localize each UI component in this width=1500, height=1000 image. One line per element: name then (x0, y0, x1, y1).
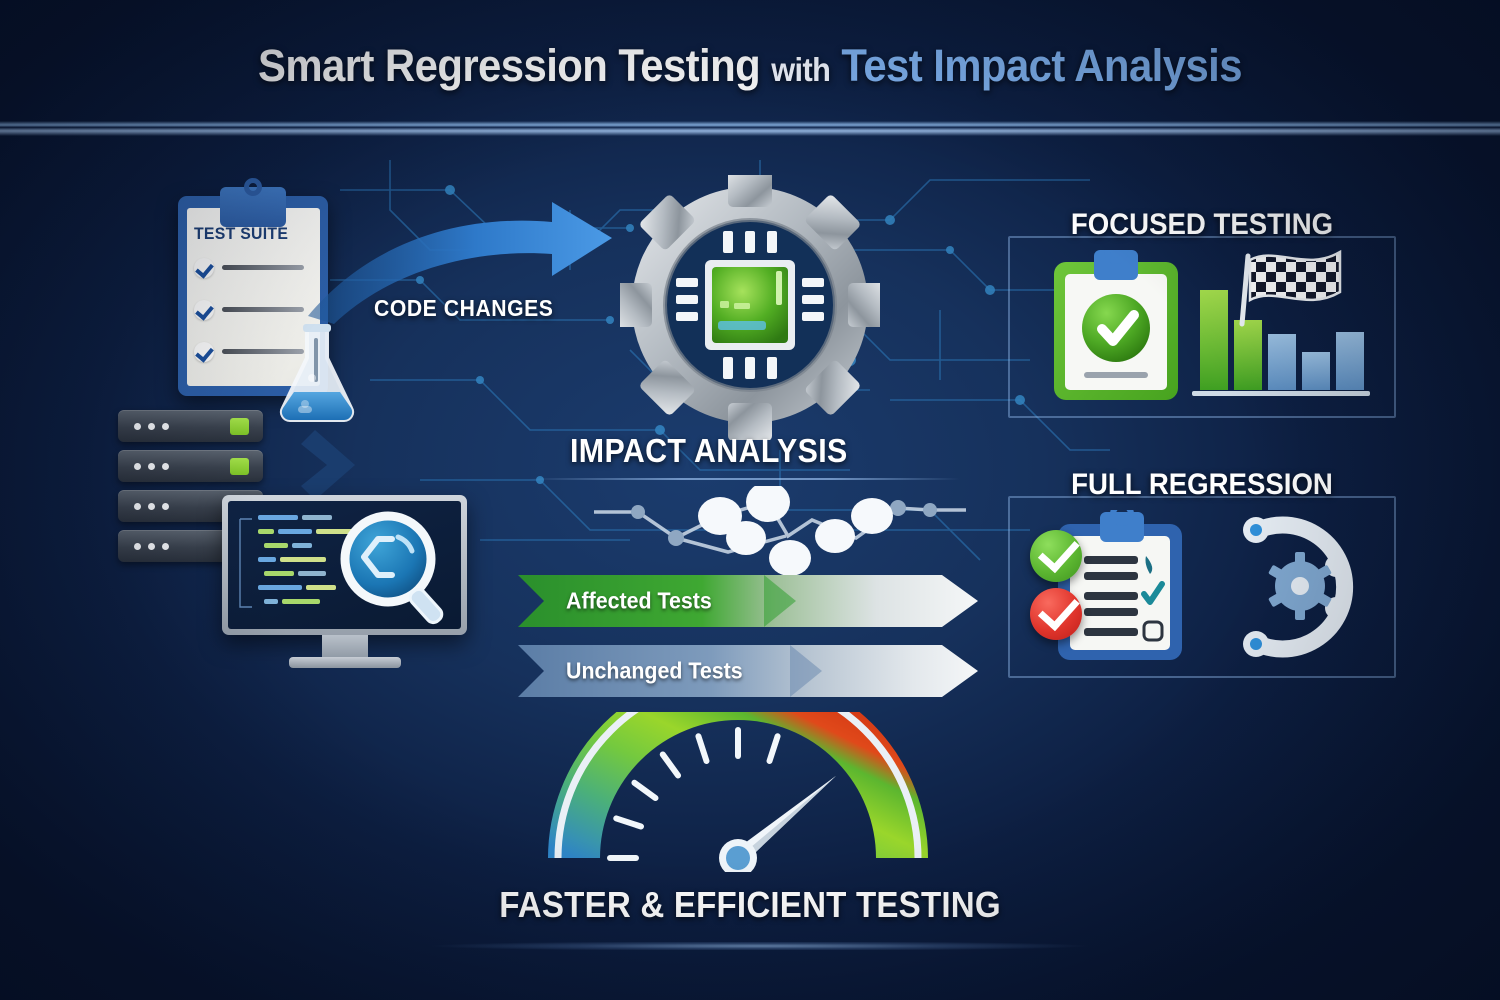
check-icon (194, 258, 214, 278)
test-suite-row (194, 300, 304, 320)
checkered-flag-icon (1236, 242, 1348, 328)
title-bar: Smart Regression Testing with Test Impac… (0, 26, 1500, 106)
panel-full-regression: FULL REGRESSION (1008, 496, 1396, 678)
blue-clipboard-icon (1052, 510, 1188, 662)
monitor-base (289, 657, 401, 668)
list-line (222, 265, 304, 270)
page-title: Smart Regression Testing with Test Impac… (258, 40, 1242, 92)
monitor-screen (228, 501, 461, 629)
green-check-badge-icon (1030, 530, 1082, 582)
magnifier-code-icon (336, 509, 458, 627)
clipboard-ring-icon (244, 178, 262, 196)
speed-gauge (548, 712, 928, 872)
red-check-badge-icon (1030, 588, 1082, 640)
status-dots-icon (134, 423, 169, 430)
monitor-neck (322, 635, 368, 659)
code-changes-label: CODE CHANGES (374, 295, 553, 322)
status-dots-icon (134, 463, 169, 470)
check-icon (194, 342, 214, 362)
title-part-2: with (771, 51, 830, 88)
devops-ring-gear-icon (1208, 512, 1358, 662)
monitor-frame (222, 495, 467, 635)
impact-analysis-heading: IMPACT ANALYSIS (570, 432, 848, 470)
gear-cpu-icon (620, 175, 880, 440)
check-icon (194, 300, 214, 320)
panel-focused-testing: FOCUSED TESTING (1008, 236, 1396, 418)
server-unit-1 (118, 410, 263, 442)
test-suite-row (194, 258, 304, 278)
infographic-canvas: Smart Regression Testing with Test Impac… (0, 0, 1500, 1000)
impact-divider (530, 478, 960, 480)
footer-divider (430, 942, 1090, 950)
server-unit-2 (118, 450, 263, 482)
banner-unchanged-tests-label: Unchanged Tests (566, 658, 743, 685)
test-suite-heading: TEST SUITE (194, 224, 288, 244)
status-dots-icon (134, 503, 169, 510)
status-dots-icon (134, 543, 169, 550)
green-clipboard-check-icon (1052, 250, 1180, 402)
list-line (222, 307, 304, 312)
footer-label: FASTER & EFFICIENT TESTING (499, 884, 1001, 926)
title-part-1: Smart Regression Testing (258, 40, 760, 91)
node-network-icon (580, 486, 980, 576)
title-divider (0, 121, 1500, 136)
banner-affected-tests-label: Affected Tests (566, 588, 712, 615)
title-part-3: Test Impact Analysis (841, 40, 1242, 91)
panel-focused-testing-title: FOCUSED TESTING (1071, 208, 1333, 242)
panel-full-regression-title: FULL REGRESSION (1071, 468, 1333, 502)
monitor-icon (222, 495, 467, 670)
